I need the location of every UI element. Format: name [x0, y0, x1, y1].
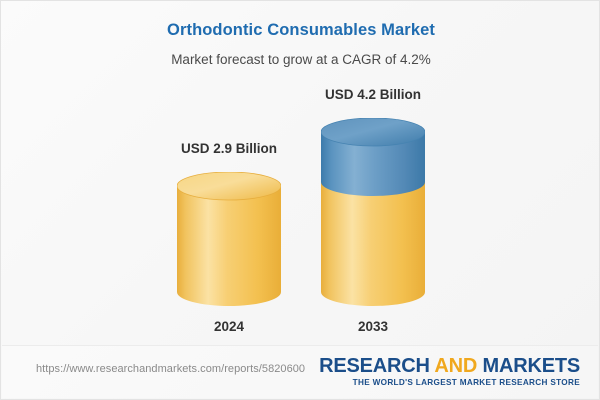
bar-value-label-2024: USD 2.9 Billion — [157, 141, 301, 156]
category-label-2033: 2033 — [301, 319, 445, 334]
logo-tagline: THE WORLD'S LARGEST MARKET RESEARCH STOR… — [319, 378, 580, 388]
logo-word-markets: MARKETS — [483, 355, 581, 377]
research-and-markets-logo[interactable]: RESEARCH AND MARKETS THE WORLD'S LARGEST… — [319, 355, 580, 388]
logo-word-and-text: AND — [434, 355, 477, 377]
chart-plot-area: USD 2.9 Billion — [1, 1, 600, 346]
logo-word-research: RESEARCH — [319, 355, 430, 377]
footer: https://www.researchandmarkets.com/repor… — [2, 345, 598, 398]
logo-wordmark: RESEARCH AND MARKETS — [319, 355, 580, 377]
cylinder-bar-2024[interactable] — [177, 172, 281, 306]
bar-value-label-2033: USD 4.2 Billion — [301, 87, 445, 102]
report-url[interactable]: https://www.researchandmarkets.com/repor… — [36, 363, 305, 375]
cylinder-2024-svg — [177, 172, 281, 306]
cylinder-2033-svg — [321, 118, 425, 306]
category-label-2024: 2024 — [157, 319, 301, 334]
cylinder-bar-2033[interactable] — [321, 118, 425, 306]
chart-card: Orthodontic Consumables Market Market fo… — [0, 0, 600, 400]
